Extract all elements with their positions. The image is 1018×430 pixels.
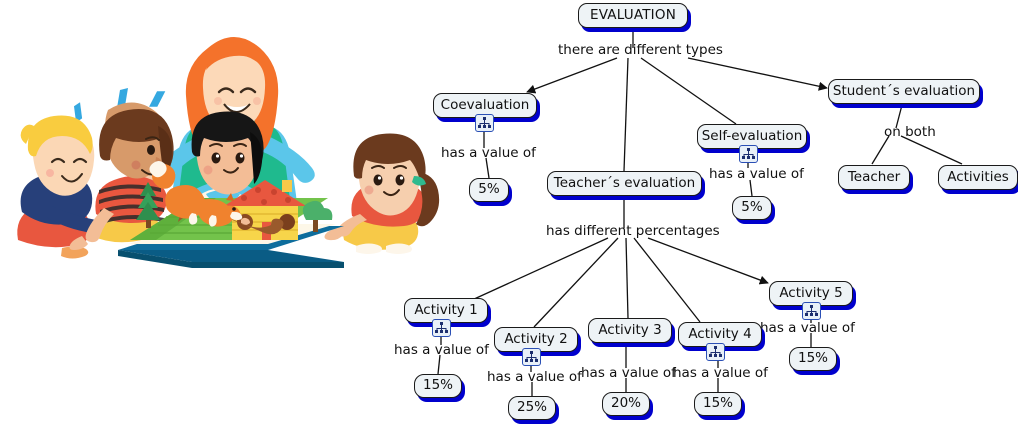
link-label-there-are-different-types: there are different types <box>558 44 723 58</box>
link-label-has-different-percentages: has different percentages <box>546 225 720 239</box>
resource-icon-activity-4[interactable] <box>706 343 725 361</box>
node-percentage-activity-3[interactable]: 20% <box>602 392 650 416</box>
node-percentage-activity-1[interactable]: 15% <box>414 374 462 398</box>
node-activities[interactable]: Activities <box>938 165 1018 190</box>
classroom-illustration <box>0 0 440 300</box>
resource-icon-activity-2[interactable] <box>522 348 541 366</box>
link-label-has-a-value-of-coevaluation: has a value of <box>441 147 536 161</box>
node-percentage-activity-2[interactable]: 25% <box>508 396 556 420</box>
node-activity-3[interactable]: Activity 3 <box>588 318 672 343</box>
link-label-has-a-value-of-activity-4: has a value of <box>673 367 768 381</box>
node-teacher[interactable]: Teacher <box>838 165 910 190</box>
resource-icon-activity-5[interactable] <box>802 302 821 320</box>
resource-icon-coevaluation[interactable] <box>475 114 494 132</box>
concept-map-canvas: there are different types on both has a … <box>0 0 1018 430</box>
link-label-has-a-value-of-activity-5: has a value of <box>760 322 855 336</box>
link-label-has-a-value-of-activity-1: has a value of <box>394 344 489 358</box>
link-label-has-a-value-of-self-evaluation: has a value of <box>709 168 804 182</box>
node-percentage-activity-4[interactable]: 15% <box>694 392 742 416</box>
link-label-on-both: on both <box>884 126 936 140</box>
node-percentage-coevaluation[interactable]: 5% <box>469 178 509 202</box>
resource-icon-activity-1[interactable] <box>432 319 451 337</box>
node-percentage-self-evaluation[interactable]: 5% <box>732 196 772 220</box>
node-evaluation[interactable]: EVALUATION <box>578 3 688 28</box>
link-label-has-a-value-of-activity-3: has a value of <box>581 367 676 381</box>
node-teachers-evaluation[interactable]: Teacher´s evaluation <box>547 171 702 196</box>
link-label-has-a-value-of-activity-2: has a value of <box>487 371 582 385</box>
resource-icon-self-evaluation[interactable] <box>739 145 758 163</box>
node-students-evaluation[interactable]: Student´s evaluation <box>828 79 980 104</box>
node-percentage-activity-5[interactable]: 15% <box>789 347 837 371</box>
